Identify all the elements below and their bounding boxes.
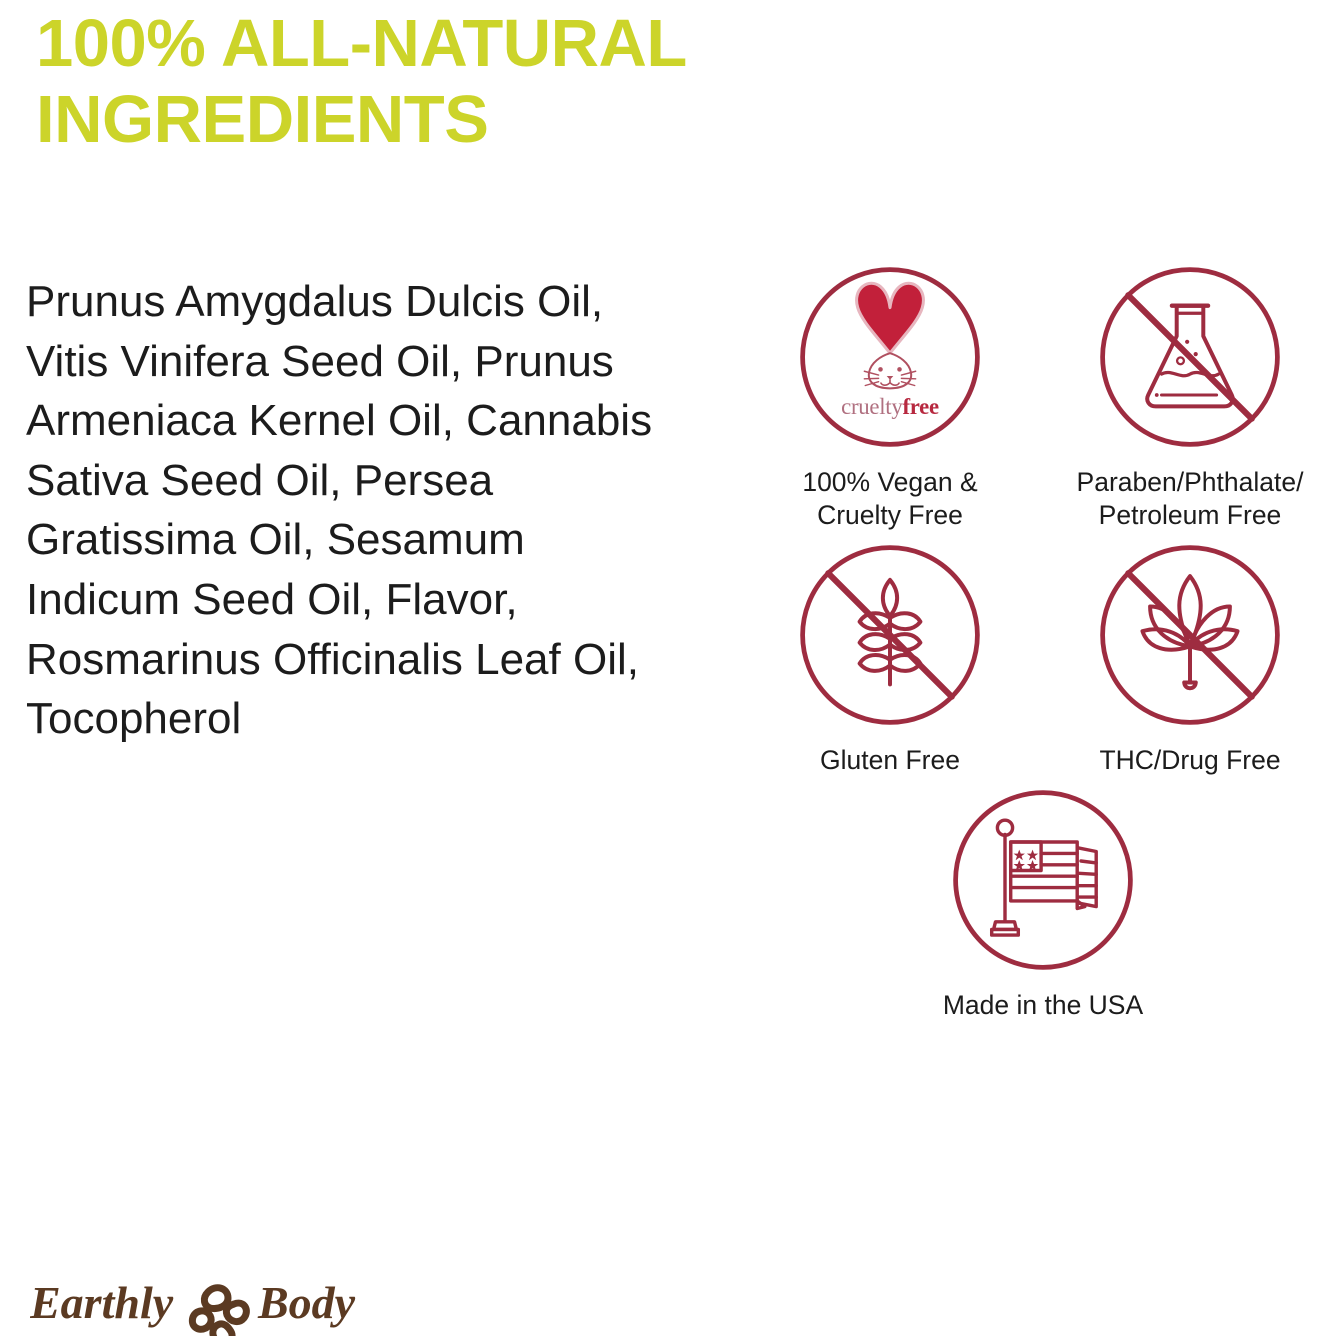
logo-text-earthly: Earthly bbox=[30, 1277, 174, 1328]
badge-label: 100% Vegan & Cruelty Free bbox=[802, 466, 977, 532]
badge-label: Paraben/Phthalate/ Petroleum Free bbox=[1077, 466, 1304, 532]
cruelty-free-icon: crueltyfree bbox=[795, 262, 985, 452]
ingredients-infographic: 100% All-Natural Ingredients Prunus Amyg… bbox=[0, 0, 1341, 1341]
badge-made-in-usa[interactable]: Made in the USA bbox=[893, 785, 1193, 1022]
svg-text:crueltyfree: crueltyfree bbox=[841, 394, 939, 419]
page-title: 100% All-Natural Ingredients bbox=[36, 6, 916, 157]
flower-ornament-icon bbox=[192, 1288, 246, 1336]
badge-vegan-cruelty-free[interactable]: crueltyfree 100% Vegan & Cruelty Free bbox=[740, 262, 1040, 532]
no-chemicals-flask-icon bbox=[1095, 262, 1285, 452]
badge-gluten-free[interactable]: Gluten Free bbox=[740, 540, 1040, 777]
ingredient-list: Prunus Amygdalus Dulcis Oil, Vitis Vinif… bbox=[26, 272, 686, 749]
badge-row-2: Gluten Free bbox=[740, 540, 1340, 777]
badge-thc-free[interactable]: THC/Drug Free bbox=[1040, 540, 1340, 777]
badge-paraben-free[interactable]: Paraben/Phthalate/ Petroleum Free bbox=[1040, 262, 1340, 532]
logo-text-body: Body bbox=[257, 1277, 356, 1328]
badge-label: Made in the USA bbox=[943, 989, 1143, 1022]
badge-label: THC/Drug Free bbox=[1099, 744, 1280, 777]
badge-label: Gluten Free bbox=[820, 744, 960, 777]
certification-badge-grid: crueltyfree 100% Vegan & Cruelty Free bbox=[740, 262, 1340, 1021]
no-wheat-icon bbox=[795, 540, 985, 730]
badge-row-3: Made in the USA bbox=[740, 785, 1340, 1022]
usa-flag-icon bbox=[948, 785, 1138, 975]
earthly-body-logo: Earthly Body bbox=[30, 1266, 380, 1336]
badge-row-1: crueltyfree 100% Vegan & Cruelty Free bbox=[740, 262, 1340, 532]
no-cannabis-leaf-icon bbox=[1095, 540, 1285, 730]
